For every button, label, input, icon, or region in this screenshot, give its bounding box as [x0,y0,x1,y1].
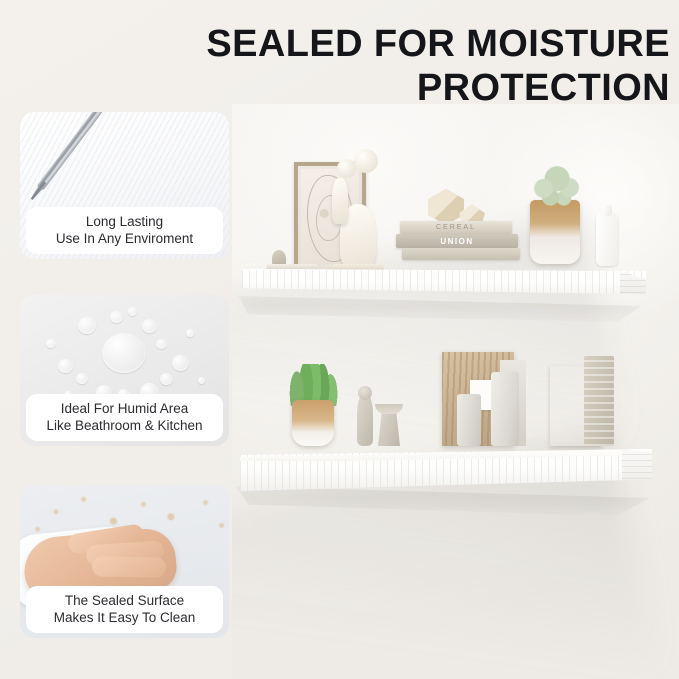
book-cereal-title: CEREAL [400,224,512,231]
page-title: SEALED FOR MOISTURE PROTECTION [150,22,670,110]
caption-line-1: Ideal For Humid Area [30,400,219,417]
product-scene: CEREAL UNION [232,104,679,679]
droplet-main [102,333,146,373]
droplet [186,329,194,337]
droplet [198,377,205,384]
droplet [128,307,137,316]
white-bottle-neck [602,205,612,216]
feature-card-long-lasting: Long Lasting Use In Any Enviroment [20,112,229,259]
droplet [156,339,167,349]
droplet [172,355,189,371]
ceramic-figure-tall-head [358,386,372,400]
feature-card-caption: Ideal For Humid Area Like Beathroom & Ki… [26,394,223,441]
caption-line-1: The Sealed Surface [30,592,219,609]
figurine-arm [332,178,348,224]
book-cereal: CEREAL [400,221,512,234]
book-bottom [402,248,520,260]
caption-line-2: Like Beathroom & Kitchen [30,417,219,434]
droplet [76,373,88,384]
white-bottle-vase [596,214,618,266]
figurine-head-large [354,149,378,173]
droplet [160,373,173,385]
figurine-head-small [337,159,356,178]
pillar-candle-short [457,394,481,446]
succulent-plant [528,162,584,206]
ceramic-figure-tall [357,394,373,446]
screwdriver-icon [20,112,117,218]
caption-line-1: Long Lasting [30,213,219,230]
finger [92,556,166,577]
droplet [110,311,123,323]
droplet [46,339,56,348]
ornament-tray [266,264,318,270]
product-infographic: SEALED FOR MOISTURE PROTECTION CEREAL [0,0,679,679]
feature-card-caption: Long Lasting Use In Any Enviroment [26,207,223,254]
caption-line-2: Use In Any Enviroment [30,230,219,247]
book-union-title: UNION [396,237,518,246]
pillar-candle-tall [491,372,519,446]
feature-card-easy-clean: The Sealed Surface Makes It Easy To Clea… [20,485,229,638]
book-stack-vertical-large [584,356,614,446]
caption-line-2: Makes It Easy To Clean [30,609,219,626]
succulent-pot [530,200,580,264]
headline-line-1: SEALED FOR MOISTURE [206,23,670,65]
droplet [78,317,96,334]
droplet [142,319,157,333]
book-union: UNION [396,234,518,248]
potted-plant-pot [292,400,334,446]
droplet [58,359,73,373]
feature-card-caption: The Sealed Surface Makes It Easy To Clea… [26,586,223,633]
feature-card-humid-area: Ideal For Humid Area Like Beathroom & Ki… [20,295,229,446]
screwdriver-shaft [37,112,114,191]
